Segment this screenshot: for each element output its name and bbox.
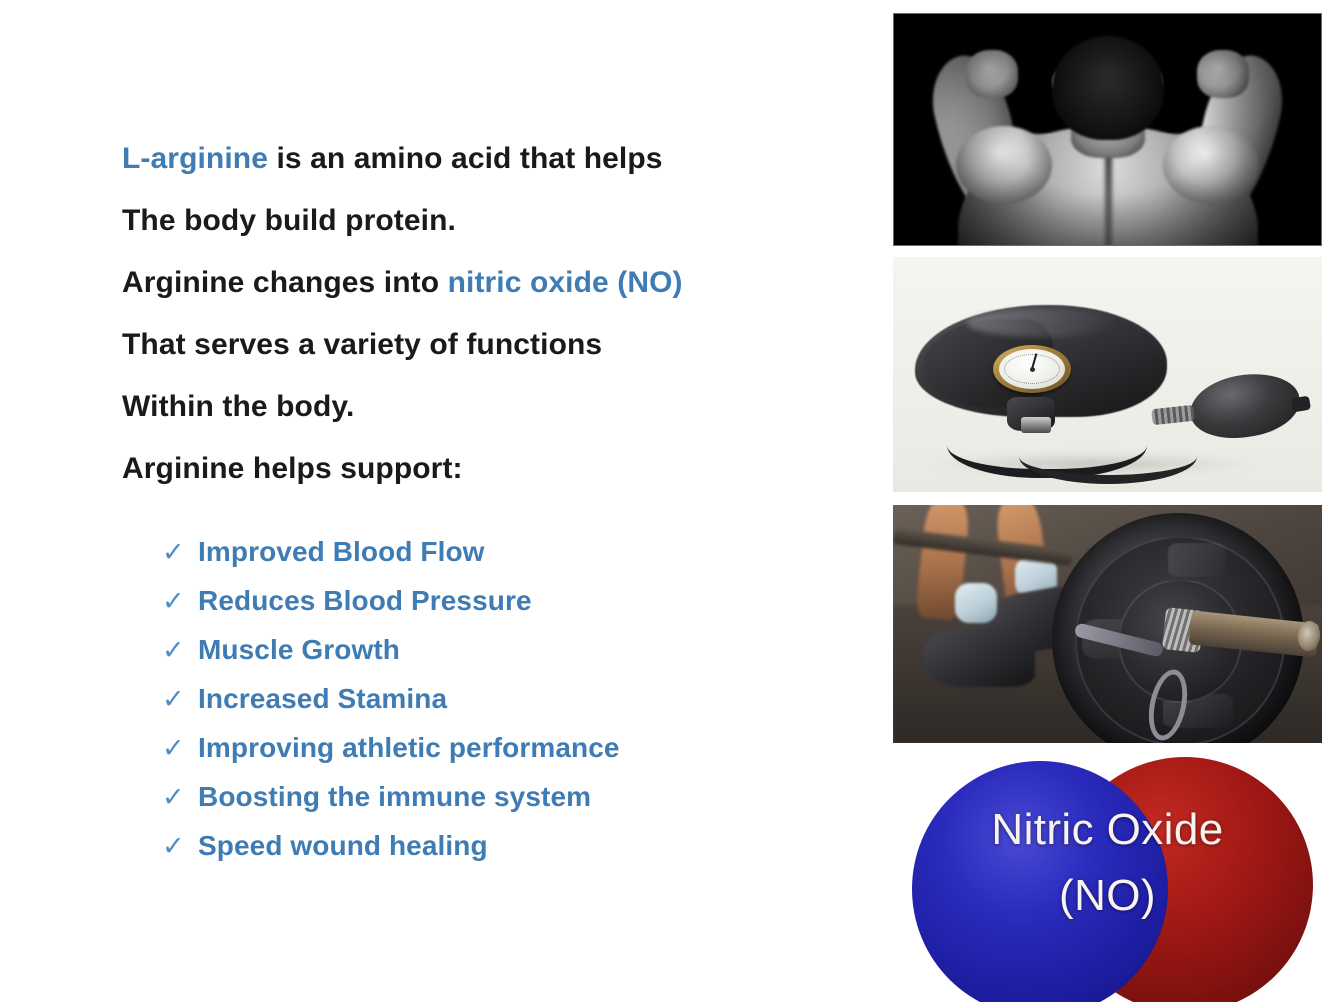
body-text-line-2: The body build protein.	[122, 190, 862, 252]
barbell-weight-plate-photo	[893, 505, 1322, 743]
athlete-sock-left	[955, 583, 997, 623]
body-text-line-3-rest: Arginine changes into	[122, 266, 448, 299]
gauge-face	[999, 349, 1065, 389]
check-icon: ✓	[162, 724, 198, 773]
bodybuilder-back-flex-photo	[893, 13, 1322, 246]
list-item-label: Boosting the immune system	[198, 772, 591, 821]
list-item: ✓ Increased Stamina	[162, 674, 862, 723]
body-text-line-1-rest: is an amino acid that helps	[268, 142, 663, 175]
check-icon: ✓	[162, 577, 198, 626]
nitric-oxide-label-line1: Nitric Oxide	[893, 797, 1322, 863]
body-text-line-2-rest: The body build protein.	[122, 204, 456, 237]
gauge-hub	[1030, 367, 1035, 372]
body-text-block: L-arginine is an amino acid that helps T…	[122, 128, 862, 500]
blood-pressure-cuff-photo	[893, 257, 1322, 492]
accent-term-l-arginine: L-arginine	[122, 142, 268, 175]
benefits-list: ✓ Improved Blood Flow ✓ Reduces Blood Pr…	[162, 527, 862, 870]
photo-vignette	[894, 14, 1321, 245]
plate-emboss-top	[1168, 543, 1226, 577]
bodybuilder-illustration	[894, 14, 1321, 245]
list-item: ✓ Speed wound healing	[162, 821, 862, 870]
accent-term-nitric-oxide: nitric oxide (NO)	[448, 266, 683, 299]
body-text-line-6-rest: Arginine helps support:	[122, 452, 463, 485]
list-item: ✓ Improving athletic performance	[162, 723, 862, 772]
nitric-oxide-label-line2: (NO)	[893, 863, 1322, 929]
check-icon: ✓	[162, 773, 198, 822]
list-item-label: Speed wound healing	[198, 821, 488, 870]
valve-nut-shape	[1021, 417, 1051, 433]
nitric-oxide-label: Nitric Oxide (NO)	[893, 797, 1322, 929]
list-item-label: Improving athletic performance	[198, 723, 620, 772]
check-icon: ✓	[162, 626, 198, 675]
list-item-label: Reduces Blood Pressure	[198, 576, 532, 625]
body-text-line-5: Within the body.	[122, 376, 862, 438]
gauge-bezel	[993, 345, 1071, 393]
cuff-highlight	[967, 309, 1117, 337]
athlete-shoe-left	[923, 627, 1035, 687]
list-item: ✓ Muscle Growth	[162, 625, 862, 674]
body-text-line-3: Arginine changes into nitric oxide (NO)	[122, 252, 862, 314]
list-item: ✓ Reduces Blood Pressure	[162, 576, 862, 625]
body-text-line-4-rest: That serves a variety of functions	[122, 328, 602, 361]
bulb-pump-shape	[1186, 367, 1304, 445]
body-text-line-6: Arginine helps support:	[122, 438, 862, 500]
hose-connector	[1151, 405, 1194, 425]
body-text-line-4: That serves a variety of functions	[122, 314, 862, 376]
nitric-oxide-molecule-photo: Nitric Oxide (NO)	[893, 753, 1322, 1002]
list-item: ✓ Improved Blood Flow	[162, 527, 862, 576]
check-icon: ✓	[162, 822, 198, 871]
list-item-label: Muscle Growth	[198, 625, 400, 674]
body-text-line-5-rest: Within the body.	[122, 390, 354, 423]
list-item: ✓ Boosting the immune system	[162, 772, 862, 821]
body-text-line-1: L-arginine is an amino acid that helps	[122, 128, 862, 190]
list-item-label: Improved Blood Flow	[198, 527, 485, 576]
check-icon: ✓	[162, 675, 198, 724]
bulb-tip-shape	[1291, 396, 1311, 413]
check-icon: ✓	[162, 528, 198, 577]
list-item-label: Increased Stamina	[198, 674, 447, 723]
tubing-back	[1019, 429, 1197, 484]
